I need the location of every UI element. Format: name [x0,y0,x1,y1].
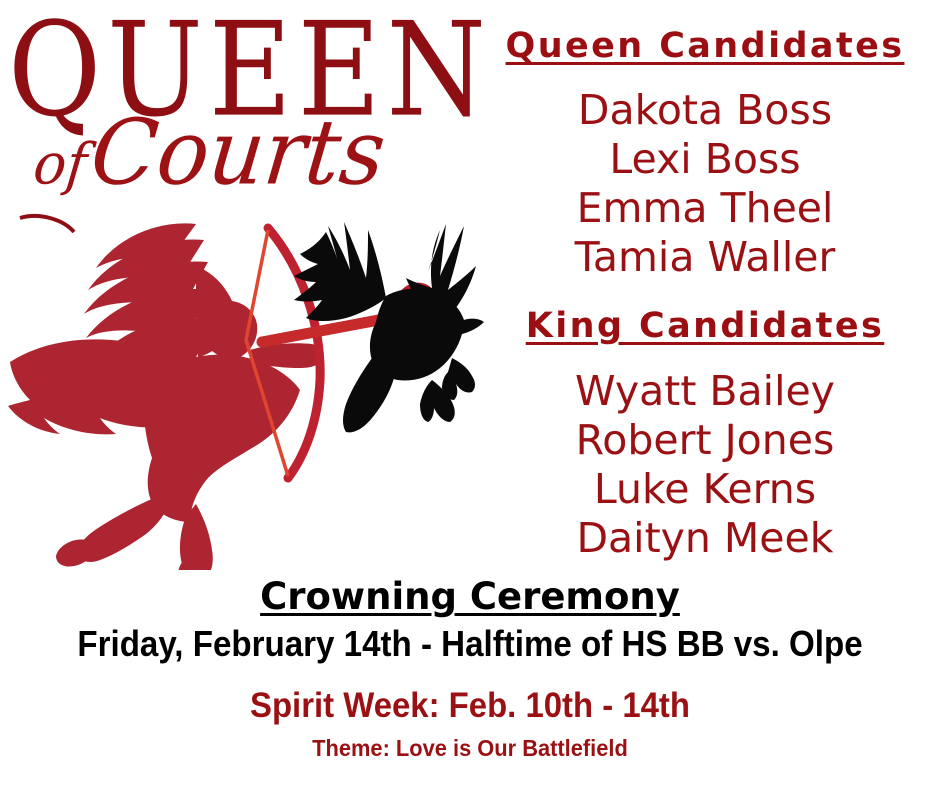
queen-of-courts-logo: QUEEN ofCourts [0,0,510,235]
poster-canvas: QUEEN ofCourts [0,0,940,788]
king-candidates-heading: King Candidates [480,308,930,345]
cupid-and-eagle-illustration [0,210,510,570]
queen-candidates-list: Dakota Boss Lexi Boss Emma Theel Tamia W… [480,86,930,282]
eagle-body [370,289,484,381]
king-candidates-list: Wyatt Bailey Robert Jones Luke Kerns Dai… [480,367,930,563]
queen-candidates-heading: Queen Candidates [480,28,930,65]
crowning-ceremony-title: Crowning Ceremony [0,578,940,617]
list-item: Dakota Boss [480,86,930,135]
crowning-ceremony-detail: Friday, February 14th - Halftime of HS B… [38,625,903,663]
cupid-silhouette [8,223,323,570]
logo-of-word: of [31,131,94,197]
list-item: Tamia Waller [480,233,930,282]
list-item: Daityn Meek [480,514,930,563]
spirit-week-dates: Spirit Week: Feb. 10th - 14th [28,688,912,725]
list-item: Wyatt Bailey [480,367,930,416]
logo-of-courts-script: ofCourts [31,108,510,198]
list-item: Emma Theel [480,184,930,233]
spirit-week-theme: Theme: Love is Our Battlefield [24,736,917,760]
logo-courts-word: Courts [86,101,390,206]
eagle-front-talon [442,358,475,400]
list-item: Robert Jones [480,416,930,465]
logo-ribbon-tail [20,216,74,232]
list-item: Lexi Boss [480,135,930,184]
cupid-rear-foot [56,539,94,566]
list-item: Luke Kerns [480,465,930,514]
